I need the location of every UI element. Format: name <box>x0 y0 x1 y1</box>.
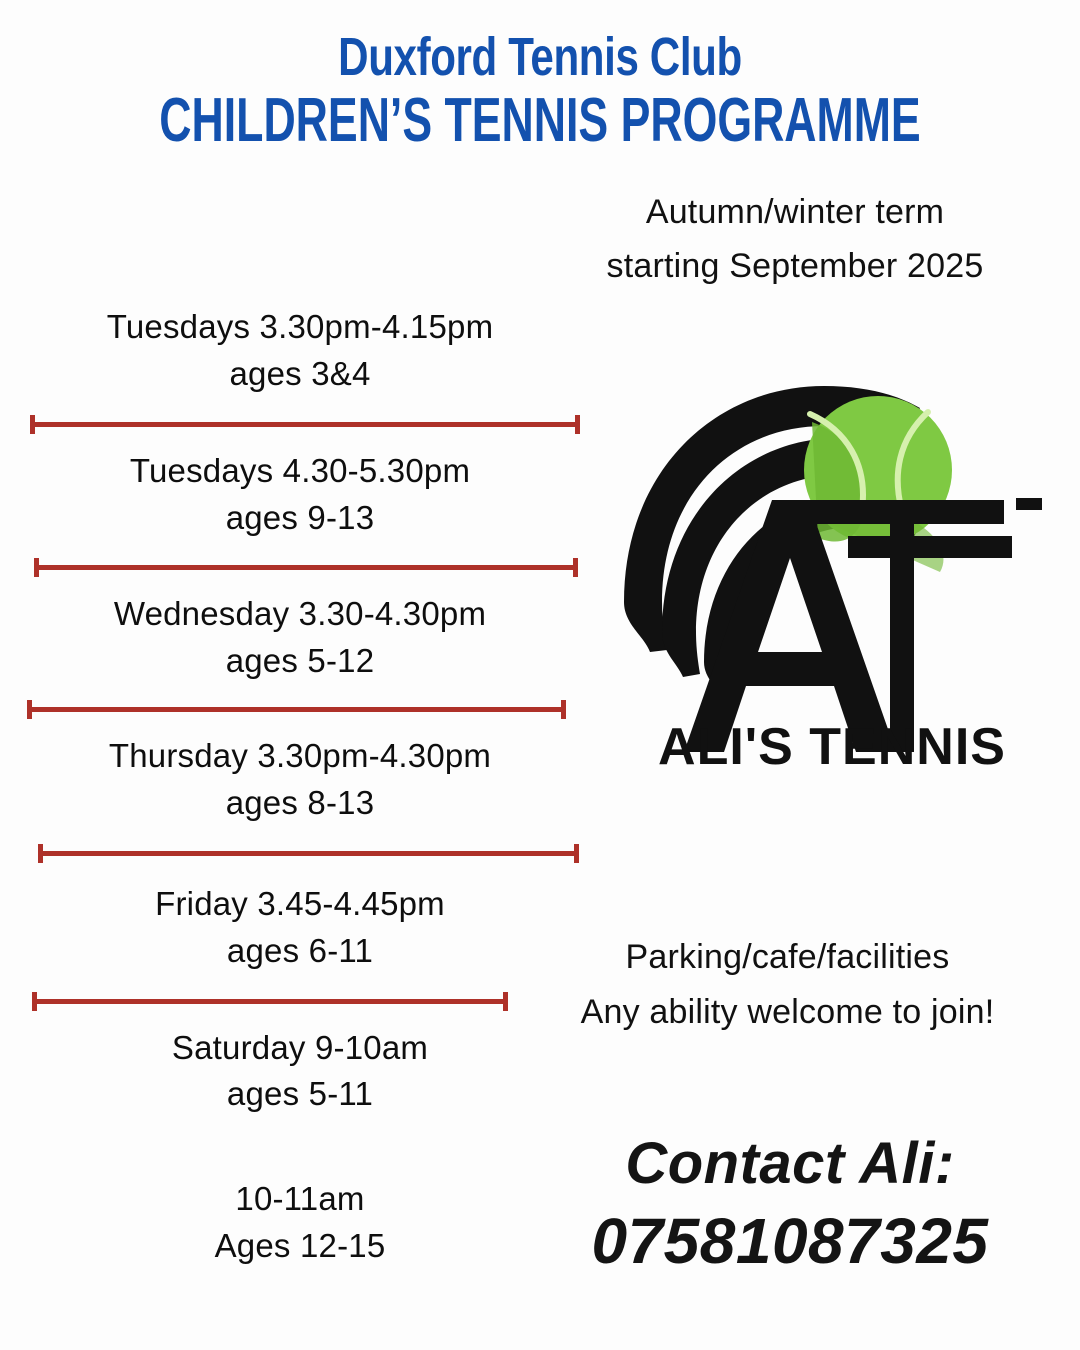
list-item: Thursday 3.30pm-4.30pm ages 8-13 <box>0 733 600 827</box>
session-time: Thursday 3.30pm-4.30pm <box>0 733 600 780</box>
term-note-line-2: starting September 2025 <box>520 240 1070 294</box>
divider <box>0 697 600 719</box>
session-ages: ages 9-13 <box>0 495 600 542</box>
page-title: CHILDREN’S TENNIS PROGRAMME <box>151 88 929 153</box>
session-time: Tuesdays 4.30-5.30pm <box>0 448 600 495</box>
facilities-note: Parking/cafe/facilities Any ability welc… <box>495 930 1080 1040</box>
term-note-line-1: Autumn/winter term <box>520 186 1070 240</box>
session-ages: ages 3&4 <box>0 351 600 398</box>
session-time: Wednesday 3.30-4.30pm <box>0 591 600 638</box>
contact-block: Contact Ali: 07581087325 <box>500 1128 1080 1281</box>
contact-label: Contact Ali: <box>500 1128 1080 1201</box>
poster-header: Duxford Tennis Club CHILDREN’S TENNIS PR… <box>0 0 1080 153</box>
facilities-line-2: Any ability welcome to join! <box>495 985 1080 1040</box>
divider <box>0 841 600 863</box>
session-ages: ages 5-11 <box>0 1071 600 1118</box>
session-ages: ages 8-13 <box>0 780 600 827</box>
list-item: Tuesdays 3.30pm-4.15pm ages 3&4 <box>0 304 600 398</box>
logo-wordmark: ALI'S TENNIS <box>658 718 1006 776</box>
divider <box>0 412 600 434</box>
monogram-at <box>684 498 1042 752</box>
session-ages: ages 5-12 <box>0 638 600 685</box>
session-time: Friday 3.45-4.45pm <box>0 881 600 928</box>
club-name: Duxford Tennis Club <box>119 30 961 84</box>
divider <box>0 555 600 577</box>
schedule-list: Tuesdays 3.30pm-4.15pm ages 3&4 Tuesdays… <box>0 304 600 1270</box>
contact-phone[interactable]: 07581087325 <box>500 1201 1080 1281</box>
facilities-line-1: Parking/cafe/facilities <box>495 930 1080 985</box>
alis-tennis-logo: ALI'S TENNIS <box>612 352 1052 782</box>
session-time: Tuesdays 3.30pm-4.15pm <box>0 304 600 351</box>
list-item: Wednesday 3.30-4.30pm ages 5-12 <box>0 591 600 685</box>
list-item: Tuesdays 4.30-5.30pm ages 9-13 <box>0 448 600 542</box>
term-note: Autumn/winter term starting September 20… <box>520 186 1070 293</box>
